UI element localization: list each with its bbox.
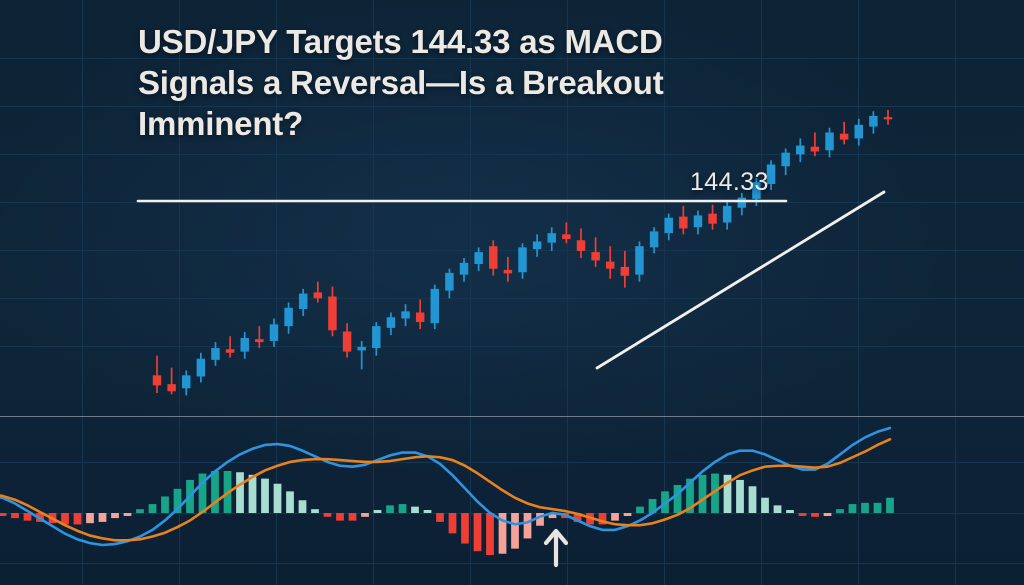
candle-body bbox=[562, 234, 570, 239]
candle-body bbox=[328, 297, 336, 331]
candle-body bbox=[811, 147, 819, 152]
candle-body bbox=[401, 311, 409, 318]
macd-line bbox=[0, 428, 890, 545]
macd-histogram-bar bbox=[324, 513, 332, 517]
candle-body bbox=[518, 247, 526, 272]
macd-histogram-bar bbox=[799, 513, 807, 516]
candle-body bbox=[357, 347, 365, 351]
candle-body bbox=[431, 289, 439, 323]
macd-histogram-bar bbox=[611, 513, 619, 521]
macd-histogram-bar bbox=[286, 491, 294, 513]
candle-body bbox=[504, 270, 512, 274]
macd-histogram-bar bbox=[299, 500, 307, 513]
candle-body bbox=[781, 153, 789, 167]
macd-histogram-bar bbox=[849, 504, 857, 513]
title-line-1: USD/JPY Targets 144.33 as MACD bbox=[138, 23, 663, 60]
candle-body bbox=[372, 326, 380, 348]
macd-histogram-series bbox=[0, 471, 894, 555]
candle-body bbox=[153, 375, 161, 385]
macd-histogram-bar bbox=[774, 505, 782, 513]
resistance-price-label: 144.33 bbox=[690, 168, 769, 197]
macd-histogram-bar bbox=[74, 513, 82, 524]
macd-histogram-bar bbox=[161, 496, 169, 513]
macd-histogram-bar bbox=[461, 513, 469, 544]
candle-body bbox=[474, 252, 482, 264]
candle-body bbox=[211, 348, 219, 360]
macd-histogram-bar bbox=[124, 513, 132, 516]
chart-screenshot: USD/JPY Targets 144.33 as MACD Signals a… bbox=[0, 0, 1024, 585]
macd-histogram-bar bbox=[474, 513, 482, 551]
candle-body bbox=[533, 241, 541, 249]
macd-histogram-bar bbox=[11, 513, 19, 518]
macd-histogram-bar bbox=[636, 507, 644, 513]
macd-histogram-bar bbox=[874, 503, 882, 513]
macd-histogram-bar bbox=[236, 472, 244, 513]
candle-body bbox=[343, 331, 351, 351]
candle-body bbox=[621, 267, 629, 276]
candle-body bbox=[445, 273, 453, 291]
macd-histogram-bar bbox=[699, 475, 707, 513]
macd-histogram-bar bbox=[674, 485, 682, 513]
candle-body bbox=[738, 198, 746, 208]
macd-histogram-bar bbox=[149, 504, 157, 513]
macd-histogram-bar bbox=[511, 513, 519, 549]
candle-body bbox=[664, 218, 672, 233]
candle-body bbox=[884, 117, 892, 119]
macd-histogram-bar bbox=[86, 513, 94, 523]
candle-body bbox=[548, 233, 556, 242]
macd-histogram-bar bbox=[136, 509, 144, 513]
candle-body bbox=[460, 263, 468, 275]
macd-histogram-bar bbox=[336, 513, 344, 521]
macd-histogram-bar bbox=[886, 498, 894, 513]
candle-body bbox=[387, 317, 395, 328]
candle-body bbox=[723, 206, 731, 223]
macd-histogram-bar bbox=[836, 509, 844, 513]
macd-histogram-bar bbox=[361, 513, 369, 517]
candle-body bbox=[240, 338, 248, 352]
macd-histogram-bar bbox=[99, 513, 107, 522]
candle-body bbox=[679, 217, 687, 229]
candle-body bbox=[606, 262, 614, 269]
candle-body bbox=[416, 313, 424, 322]
macd-histogram-bar bbox=[374, 510, 382, 513]
macd-histogram-bar bbox=[749, 486, 757, 513]
candle-body bbox=[650, 231, 658, 247]
macd-histogram-bar bbox=[861, 503, 869, 513]
macd-signal-line bbox=[0, 439, 890, 540]
candle-body bbox=[284, 308, 292, 326]
candle-body bbox=[167, 384, 175, 391]
candle-body bbox=[694, 215, 702, 227]
macd-histogram-bar bbox=[486, 513, 494, 555]
candle-body bbox=[299, 294, 307, 309]
candle-body bbox=[489, 246, 497, 269]
candle-body bbox=[577, 240, 585, 251]
headline-block: USD/JPY Targets 144.33 as MACD Signals a… bbox=[138, 22, 858, 145]
page-title: USD/JPY Targets 144.33 as MACD Signals a… bbox=[138, 22, 858, 145]
candle-body bbox=[226, 349, 234, 353]
macd-histogram-bar bbox=[624, 513, 632, 516]
macd-histogram-bar bbox=[111, 513, 119, 518]
candle-body bbox=[314, 292, 322, 298]
macd-histogram-bar bbox=[386, 505, 394, 513]
macd-histogram-bar bbox=[411, 507, 419, 513]
macd-histogram-bar bbox=[524, 513, 532, 538]
macd-histogram-bar bbox=[424, 510, 432, 513]
candlestick-series bbox=[153, 110, 892, 395]
macd-histogram-bar bbox=[449, 513, 457, 533]
macd-histogram-bar bbox=[736, 480, 744, 513]
candle-body bbox=[635, 246, 643, 274]
macd-histogram-bar bbox=[811, 513, 819, 517]
macd-histogram-bar bbox=[274, 484, 282, 513]
candle-body bbox=[591, 252, 599, 260]
macd-histogram-bar bbox=[761, 498, 769, 513]
macd-histogram-bar bbox=[399, 504, 407, 513]
candle-body bbox=[182, 375, 190, 388]
candle-body bbox=[270, 324, 278, 341]
bullish-signal-arrow-icon bbox=[546, 531, 566, 565]
macd-histogram-bar bbox=[211, 471, 219, 513]
title-line-2: Signals a Reversal—Is a Breakout bbox=[138, 64, 664, 101]
macd-histogram-bar bbox=[261, 479, 269, 513]
macd-histogram-bar bbox=[0, 513, 6, 516]
title-line-3: Imminent? bbox=[138, 105, 303, 142]
macd-histogram-bar bbox=[436, 513, 444, 522]
candle-body bbox=[796, 146, 804, 155]
candle-body bbox=[255, 339, 263, 342]
macd-histogram-bar bbox=[824, 513, 832, 516]
macd-histogram-bar bbox=[349, 513, 357, 521]
candle-body bbox=[869, 116, 877, 127]
macd-histogram-bar bbox=[249, 475, 257, 513]
macd-histogram-bar bbox=[786, 510, 794, 513]
macd-histogram-bar bbox=[311, 509, 319, 513]
candle-body bbox=[197, 359, 205, 377]
candle-body bbox=[708, 214, 716, 224]
